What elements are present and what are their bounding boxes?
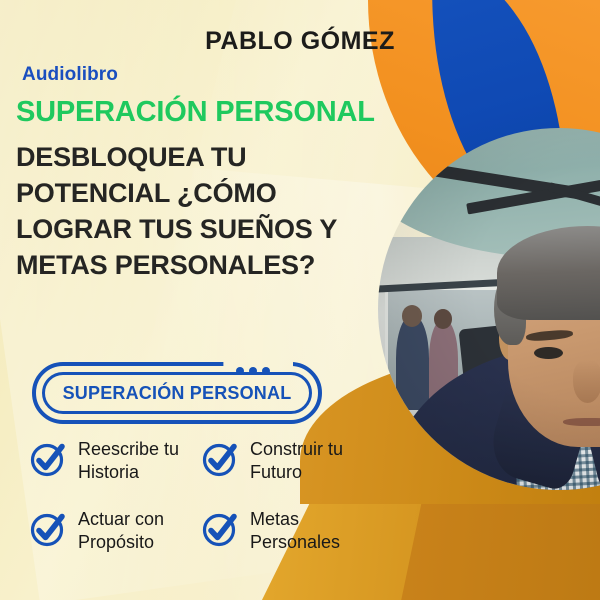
photo-vignette [378, 128, 600, 490]
title-highlight: SUPERACIÓN PERSONAL [16, 96, 375, 129]
author-photo [378, 128, 600, 490]
feature-list: Reescribe tu Historia Construir tu Futur… [28, 436, 368, 576]
feature-item: Construir tu Futuro [200, 436, 372, 506]
feature-item: Reescribe tu Historia [28, 436, 200, 506]
check-circle-icon [200, 437, 242, 479]
category-badge: SUPERACIÓN PERSONAL [32, 362, 322, 424]
category-badge-label: SUPERACIÓN PERSONAL [63, 383, 292, 404]
format-label: Audiolibro [22, 64, 118, 86]
subtitle: DESBLOQUEA TU POTENCIAL ¿CÓMO LOGRAR TUS… [16, 140, 376, 284]
check-circle-icon [28, 437, 70, 479]
check-circle-icon [28, 507, 70, 549]
feature-label: Actuar con Propósito [78, 506, 198, 554]
feature-label: Reescribe tu Historia [78, 436, 198, 484]
check-circle-icon [200, 507, 242, 549]
feature-label: Metas Personales [250, 506, 370, 554]
feature-label: Construir tu Futuro [250, 436, 370, 484]
feature-item: Metas Personales [200, 506, 372, 576]
feature-item: Actuar con Propósito [28, 506, 200, 576]
author-photo-inner [378, 128, 600, 490]
category-badge-inner: SUPERACIÓN PERSONAL [42, 372, 312, 414]
author-name: PABLO GÓMEZ [0, 27, 600, 56]
audiobook-poster: PABLO GÓMEZ Audiolibro SUPERACIÓN PERSON… [0, 0, 600, 600]
